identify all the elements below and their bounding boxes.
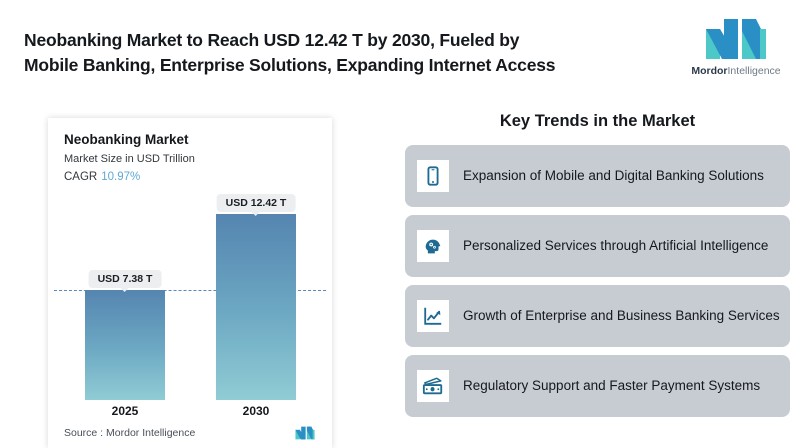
page-title: Neobanking Market to Reach USD 12.42 T b… <box>24 28 664 78</box>
x-axis-label-2025: 2025 <box>112 404 139 418</box>
trend-label: Personalized Services through Artificial… <box>463 237 776 255</box>
chart-card: Neobanking Market Market Size in USD Tri… <box>48 118 332 448</box>
cagr-value: 10.97% <box>101 171 140 183</box>
chart-x-axis-labels: 2025 2030 <box>48 404 332 424</box>
banknotes-icon <box>417 370 449 402</box>
chart-plot-area: USD 7.38 T USD 12.42 T <box>48 198 332 400</box>
trend-card-regulatory-payments[interactable]: Regulatory Support and Faster Payment Sy… <box>405 355 790 417</box>
key-trends-panel: Key Trends in the Market Expansion of Mo… <box>405 112 790 425</box>
mordor-m-logo-small-icon <box>292 426 318 440</box>
trend-card-enterprise-banking[interactable]: Growth of Enterprise and Business Bankin… <box>405 285 790 347</box>
page-title-line-2: Mobile Banking, Enterprise Solutions, Ex… <box>24 53 664 78</box>
mordor-m-logo-icon <box>704 17 768 61</box>
trend-label: Regulatory Support and Faster Payment Sy… <box>463 377 768 395</box>
brand-name-bold: Mordor <box>691 65 727 77</box>
smartphone-icon <box>417 160 449 192</box>
cagr-label: CAGR <box>64 171 97 183</box>
x-axis-label-2030: 2030 <box>243 404 270 418</box>
bar-value-label-2030: USD 12.42 T <box>217 194 296 212</box>
infographic-canvas: Neobanking Market to Reach USD 12.42 T b… <box>0 0 800 448</box>
chart-subtitle: Market Size in USD Trillion <box>64 153 195 165</box>
brand-logo: MordorIntelligence <box>682 5 790 88</box>
trend-card-mobile-banking[interactable]: Expansion of Mobile and Digital Banking … <box>405 145 790 207</box>
header: Neobanking Market to Reach USD 12.42 T b… <box>0 0 800 108</box>
trend-label: Growth of Enterprise and Business Bankin… <box>463 307 788 325</box>
bar-value-label-2025: USD 7.38 T <box>89 270 162 288</box>
trend-card-artificial-intelligence[interactable]: Personalized Services through Artificial… <box>405 215 790 277</box>
chart-title: Neobanking Market <box>64 132 189 147</box>
bar-2025 <box>85 290 165 400</box>
line-chart-growth-icon <box>417 300 449 332</box>
brand-logo-text: MordorIntelligence <box>691 65 780 77</box>
chart-cagr: CAGR10.97% <box>64 171 140 183</box>
brand-name-light: Intelligence <box>728 65 781 77</box>
chart-source-row: Source : Mordor Intelligence <box>64 426 318 440</box>
ai-head-gear-icon <box>417 230 449 262</box>
key-trends-title: Key Trends in the Market <box>405 112 790 131</box>
source-text: Source : Mordor Intelligence <box>64 427 195 439</box>
page-title-line-1: Neobanking Market to Reach USD 12.42 T b… <box>24 28 664 53</box>
bar-2030 <box>216 214 296 400</box>
trend-label: Expansion of Mobile and Digital Banking … <box>463 167 772 185</box>
